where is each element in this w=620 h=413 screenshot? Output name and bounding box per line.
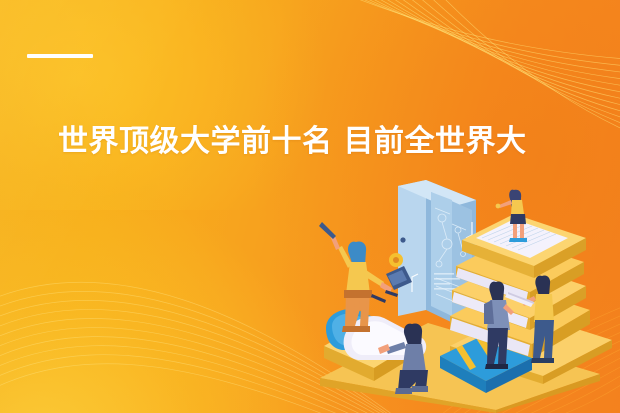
article-header-banner: 世界顶级大学前十名 目前全世界大 [0, 0, 620, 413]
title-divider-rule [27, 54, 93, 58]
page-title: 世界顶级大学前十名 目前全世界大 [58, 122, 578, 162]
hero-illustration [300, 178, 620, 413]
